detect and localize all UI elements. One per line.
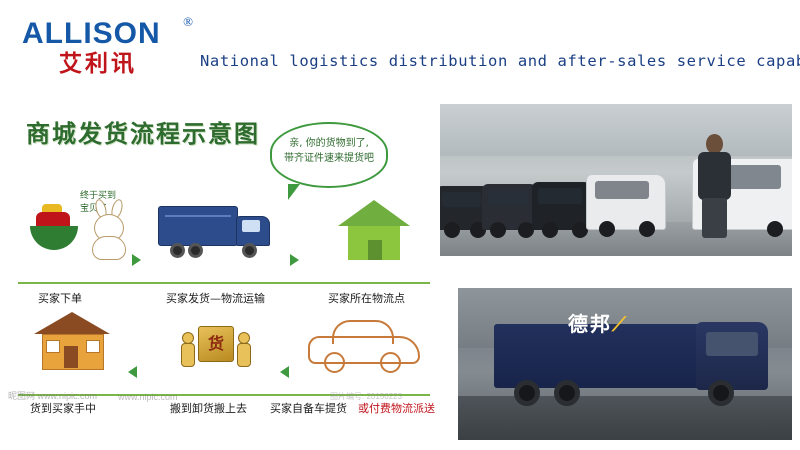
worker-right-icon: [236, 332, 250, 366]
person-head: [706, 134, 723, 154]
roof-icon: [338, 200, 410, 226]
worker-body-icon: [237, 343, 251, 367]
step-label-pickup: 买家自备车提货: [270, 400, 347, 416]
truck-trailer-icon: [158, 206, 238, 246]
door-icon: [64, 346, 78, 368]
truck-brand-logo: 德邦⟋: [568, 308, 628, 337]
window-icon: [46, 340, 60, 353]
step-label-shipping: 买家发货—物流运输: [166, 290, 265, 306]
suv-wheel-icon: [599, 221, 615, 237]
speech-bubble-text: 亲, 你的货物到了, 带齐证件速来提货吧: [284, 138, 374, 164]
truck-window-icon: [242, 220, 260, 232]
white-suv-icon: [586, 174, 666, 230]
car-wheel-icon: [380, 352, 401, 373]
speech-bubble: 亲, 你的货物到了, 带齐证件速来提货吧: [270, 122, 388, 188]
basket-bowl-icon: [30, 226, 78, 250]
delivery-truck-icon: [158, 202, 278, 264]
cargo-handling-icon: 货: [176, 316, 254, 376]
registered-mark-icon: ®: [183, 14, 193, 30]
suv-window-icon: [538, 188, 581, 204]
flow-arrow-icon: [290, 254, 299, 266]
truck-brand-text: 德邦: [568, 312, 612, 336]
buyer-character-icon: [84, 200, 132, 260]
road-background: [458, 396, 792, 440]
suv-window-icon: [488, 190, 529, 206]
suv-wheel-icon: [444, 222, 460, 238]
suv-window-icon: [595, 181, 650, 199]
step-label-station: 买家所在物流点: [328, 290, 405, 306]
gift-basket-icon: [26, 202, 82, 254]
buyer-car-icon: [308, 318, 420, 376]
truck-wheel: [514, 380, 540, 406]
window-icon: [86, 340, 100, 353]
truck-wheel-icon: [170, 243, 185, 258]
car-wheel-icon: [324, 352, 345, 373]
flow-arrow-icon: [128, 366, 137, 378]
flow-divider-line: [18, 282, 430, 284]
logistics-truck-photo: 德邦⟋: [458, 288, 792, 440]
slide: ALLISON ® 艾利讯 National logistics distrib…: [0, 0, 800, 450]
truck-wheel: [708, 380, 734, 406]
brand-logo: ALLISON ® 艾利讯: [22, 18, 202, 80]
truck-windshield: [706, 332, 758, 356]
step-label-paid-delivery: 或付费物流派送: [358, 400, 435, 416]
person-legs: [702, 198, 727, 238]
suv-wheel-icon: [767, 221, 783, 237]
truck-wheel-icon: [242, 243, 257, 258]
brand-name: ALLISON: [22, 18, 197, 50]
truck-wheel: [554, 380, 580, 406]
suv-window-icon: [442, 192, 481, 207]
watermark-right: 图片编号: 20150223: [330, 391, 402, 402]
suv-wheel-icon: [542, 222, 558, 238]
worker-body-icon: [181, 343, 195, 367]
watermark-middle: www.nipic.com: [118, 392, 178, 402]
step-label-unload: 搬到卸货搬上去: [170, 400, 247, 416]
bunny-body-icon: [92, 236, 126, 260]
diagram-title: 商城发货流程示意图: [26, 114, 260, 149]
sky-background: [440, 104, 792, 156]
staff-person: [694, 134, 734, 238]
page-title: National logistics distribution and afte…: [200, 52, 790, 70]
shipping-flow-diagram: 商城发货流程示意图 亲, 你的货物到了, 带齐证件速来提货吧 终于买到 宝贝了: [8, 104, 438, 424]
suv-wheel-icon: [490, 222, 506, 238]
brand-name-chinese: 艾利讯: [22, 51, 174, 77]
flow-arrow-icon: [132, 254, 141, 266]
flow-arrow-icon: [280, 366, 289, 378]
roof-icon: [34, 312, 110, 334]
cargo-box-icon: 货: [198, 326, 234, 362]
fleet-photo: [440, 104, 792, 256]
buyer-home-icon: [34, 312, 110, 374]
truck-wheel-icon: [188, 243, 203, 258]
watermark-left: 昵图网 www.nipic.com: [8, 389, 97, 402]
truck-brand-arrow-icon: ⟋: [612, 312, 628, 336]
worker-left-icon: [180, 332, 194, 366]
logistics-station-icon: [338, 200, 410, 266]
step-label-delivered: 货到买家手中: [30, 400, 96, 416]
suv-wheel-icon: [639, 221, 655, 237]
door-icon: [368, 240, 382, 260]
step-label-order: 买家下单: [38, 290, 82, 306]
person-torso: [698, 152, 731, 200]
dark-suv-icon: [532, 182, 594, 230]
